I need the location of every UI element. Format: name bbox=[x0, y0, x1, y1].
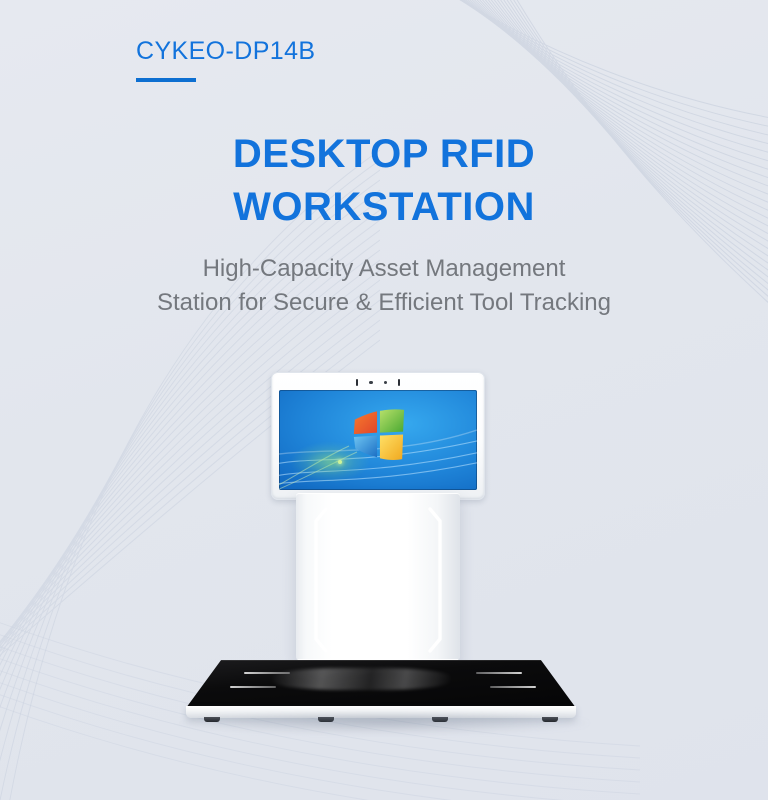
product-image bbox=[0, 360, 768, 760]
camera-sensor-bar-icon bbox=[355, 379, 401, 386]
model-number: CYKEO-DP14B bbox=[136, 38, 315, 66]
model-number-block: CYKEO-DP14B bbox=[136, 38, 315, 82]
pedestal-cabinet bbox=[296, 493, 460, 669]
monitor bbox=[271, 372, 485, 500]
windows-logo-icon bbox=[349, 408, 407, 464]
headline-line-2: WORKSTATION bbox=[0, 181, 768, 234]
cabinet-bevel-right bbox=[428, 507, 444, 653]
title-block: DESKTOP RFID WORKSTATION High-Capacity A… bbox=[0, 128, 768, 321]
accent-rule bbox=[136, 78, 196, 82]
product-poster: CYKEO-DP14B DESKTOP RFID WORKSTATION Hig… bbox=[0, 0, 768, 800]
monitor-screen bbox=[279, 390, 477, 490]
subtitle-line-2: Station for Secure & Efficient Tool Trac… bbox=[0, 286, 768, 320]
subtitle-line-1: High-Capacity Asset Management bbox=[0, 252, 768, 286]
page-title: DESKTOP RFID WORKSTATION bbox=[0, 128, 768, 234]
base-marking bbox=[244, 672, 290, 674]
base-reflection bbox=[272, 668, 451, 690]
subtitle: High-Capacity Asset Management Station f… bbox=[0, 252, 768, 320]
base-marking bbox=[476, 672, 522, 674]
base-marking bbox=[230, 686, 276, 688]
base-marking bbox=[490, 686, 536, 688]
cabinet-bevel-left bbox=[312, 507, 328, 653]
headline-line-1: DESKTOP RFID bbox=[0, 128, 768, 181]
product-floor-shadow bbox=[176, 712, 588, 734]
